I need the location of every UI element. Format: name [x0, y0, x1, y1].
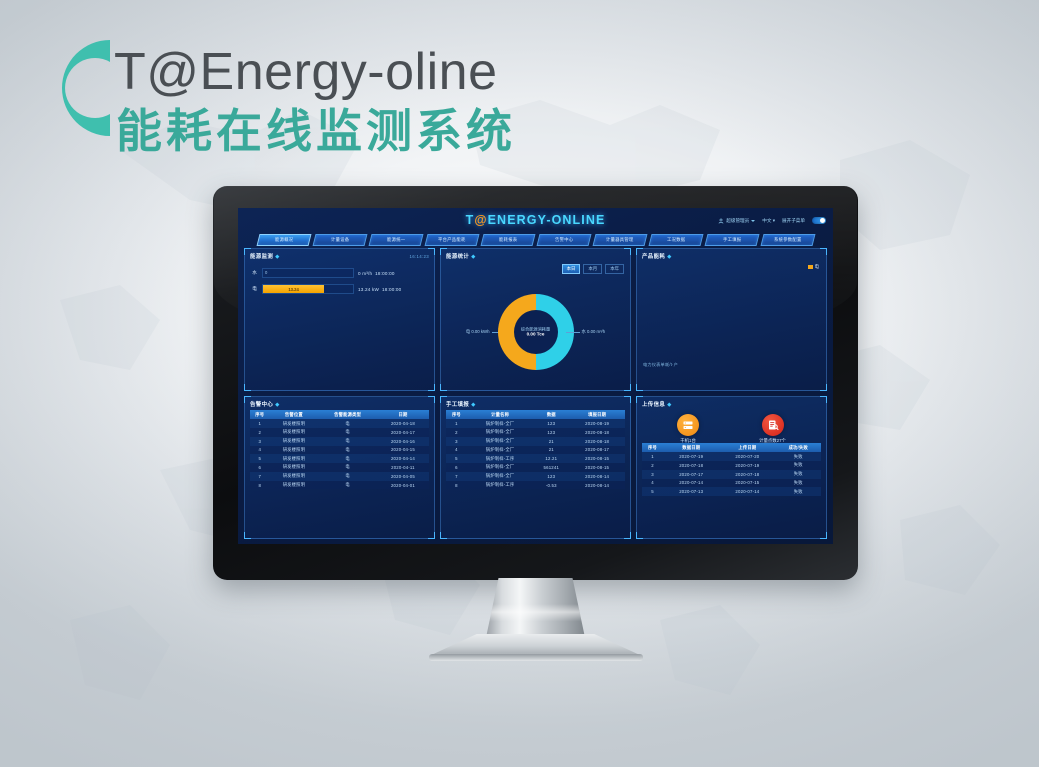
dashboard: T@ENERGY-ONLINE 超级管理员 中文 ▾ 展开子菜单	[238, 208, 833, 544]
table-cell: 电	[318, 454, 377, 463]
document-search-icon	[762, 414, 784, 436]
table-cell: 2020-07-18	[663, 461, 719, 470]
donut-center-value: 0.00 Tce	[498, 332, 574, 338]
panel-manual-entry: 手工填报 序号计量名称数据填报日期1锅炉制样-全厂1232020-08-192锅…	[440, 396, 631, 539]
table-cell: 1	[642, 452, 663, 461]
table-cell: 锅炉制样-全厂	[467, 463, 533, 472]
table-cell: 123	[533, 472, 569, 481]
submenu-toggle[interactable]	[812, 217, 826, 224]
table-cell: 5	[642, 487, 663, 496]
period-tab-2[interactable]: 本年	[605, 264, 624, 274]
table-row[interactable]: 52020-07-132020-07-14失败	[642, 487, 821, 496]
table-cell: 电	[318, 428, 377, 437]
table-cell: 3	[446, 437, 467, 446]
table-cell: 失败	[776, 479, 821, 488]
panel-title: 能源统计	[446, 252, 469, 260]
nav-item-8[interactable]: 手工填报	[704, 234, 759, 246]
panel-title: 手工填报	[446, 400, 469, 408]
panel-header: 手工填报	[441, 397, 630, 410]
table-cell: 2020-04-15	[377, 446, 429, 455]
energy-row-1: 电13.2413.24 kW 18:00:00	[251, 284, 428, 294]
table-cell: 研发楼照明	[270, 419, 319, 428]
nav-item-3[interactable]: 平台产品能耗	[424, 234, 479, 246]
table-cell: 失败	[776, 470, 821, 479]
table-row[interactable]: 8锅炉制样-工序-0.532020-08-14	[446, 481, 625, 490]
logo-suffix: ENERGY-ONLINE	[488, 213, 606, 227]
panel-title: 上传信息	[642, 400, 665, 408]
column-header: 告警能源类型	[318, 410, 377, 419]
nav-item-label: 能源统一	[386, 237, 404, 243]
table-cell: 2020-08-14	[569, 481, 625, 490]
table-cell: 4	[446, 446, 467, 455]
table-header-row: 序号数据日期上传日期成功/失败	[642, 443, 821, 452]
table-cell: 2020-04-18	[377, 419, 429, 428]
table-header-row: 序号告警位置告警能源类型日期	[250, 410, 429, 419]
chevron-down-icon	[751, 220, 755, 222]
language-menu[interactable]: 中文 ▾	[762, 218, 775, 224]
table-row[interactable]: 6研发楼照明电2020-04-11	[250, 463, 429, 472]
table-cell: -0.53	[533, 481, 569, 490]
table-cell: 2020-08-14	[569, 472, 625, 481]
column-header: 数据	[533, 410, 569, 419]
nav-item-5[interactable]: 告警中心	[536, 234, 591, 246]
table-cell: 2020-08-18	[569, 437, 625, 446]
legend-swatch-electric	[808, 265, 813, 269]
diamond-icon	[668, 254, 672, 258]
table-cell: 研发楼照明	[270, 481, 319, 490]
user-menu[interactable]: 超级管理员	[718, 218, 755, 224]
nav-item-4[interactable]: 能耗报表	[480, 234, 535, 246]
dashboard-grid: 能源监测 16:14:23 水00 m³/h 18:00:00电13.2413.…	[244, 248, 827, 539]
column-header: 告警位置	[270, 410, 319, 419]
panel-energy-stats: 能源统计 本日本月本年 电 0.00 kWh 综合能源消耗量 0.00 Tce	[440, 248, 631, 391]
donut-center: 综合能源消耗量 0.00 Tce	[498, 326, 574, 337]
table-row[interactable]: 42020-07-142020-07-15失败	[642, 479, 821, 488]
table-cell: 2020-07-19	[663, 452, 719, 461]
energy-row-bar-fill: 13.24	[263, 285, 324, 293]
chart-legend: 电	[808, 264, 819, 270]
table-cell: 锅炉制样-全厂	[467, 472, 533, 481]
logo-prefix: T	[466, 213, 475, 227]
panel-header: 能源统计	[441, 249, 630, 262]
diamond-icon	[276, 254, 280, 258]
period-tab-1[interactable]: 本月	[583, 264, 602, 274]
nav-item-label: 能源概况	[274, 237, 292, 243]
alarm-table-wrap[interactable]: 序号告警位置告警能源类型日期1研发楼照明电2020-04-182研发楼照明电20…	[250, 410, 429, 537]
dashboard-logo: T@ENERGY-ONLINE	[466, 213, 606, 227]
column-header: 序号	[446, 410, 467, 419]
panel-body: 电 电力仪表单耗/t·产	[637, 262, 826, 390]
monitor: T@ENERGY-ONLINE 超级管理员 中文 ▾ 展开子菜单	[213, 186, 858, 580]
table-row[interactable]: 12020-07-192020-07-20失败	[642, 452, 821, 461]
diamond-icon	[668, 402, 672, 406]
table-row[interactable]: 2研发楼照明电2020-04-17	[250, 428, 429, 437]
monitor-neck	[486, 578, 586, 640]
energy-row-bar-value: 0	[265, 270, 267, 275]
table-header-row: 序号计量名称数据填报日期	[446, 410, 625, 419]
table-cell: 锅炉制样-工序	[467, 481, 533, 490]
upload-badges: 干机1台计量点数27个	[637, 410, 826, 446]
table-row[interactable]: 6锅炉制样-全厂5612412020-08-15	[446, 463, 625, 472]
table-cell: 8	[250, 481, 270, 490]
logo-c-icon	[52, 30, 114, 146]
period-tab-0[interactable]: 本日	[562, 264, 581, 274]
energy-row-0: 水00 m³/h 18:00:00	[251, 268, 428, 278]
table-cell: 2020-07-18	[719, 470, 775, 479]
table-cell: 研发楼照明	[270, 446, 319, 455]
upload-table: 序号数据日期上传日期成功/失败12020-07-192020-07-20失败22…	[642, 443, 821, 496]
brand-title-en: T@Energy-oline	[114, 46, 498, 98]
table-cell: 锅炉制样-全厂	[467, 419, 533, 428]
table-cell: 电	[318, 446, 377, 455]
table-cell: 电	[318, 472, 377, 481]
table-row[interactable]: 3锅炉制样-全厂212020-08-18	[446, 437, 625, 446]
donut-ring: 综合能源消耗量 0.00 Tce	[498, 294, 574, 370]
nav-item-label: 系统参数配置	[774, 237, 802, 243]
energy-row-name: 水	[251, 270, 258, 276]
table-cell: 8	[446, 481, 467, 490]
column-header: 填报日期	[569, 410, 625, 419]
table-cell: 2020-04-11	[377, 463, 429, 472]
panel-title: 产品能耗	[642, 252, 665, 260]
diamond-icon	[472, 402, 476, 406]
table-cell: 研发楼照明	[270, 472, 319, 481]
server-icon	[677, 414, 699, 436]
energy-row-name: 电	[251, 286, 258, 292]
nav-item-1[interactable]: 计量设备	[312, 234, 367, 246]
nav-item-label: 计量器具管理	[606, 237, 634, 243]
table-cell: 4	[250, 446, 270, 455]
table-row[interactable]: 2锅炉制样-全厂1232020-08-18	[446, 428, 625, 437]
table-cell: 2020-04-16	[377, 437, 429, 446]
brand-title-cn: 能耗在线监测系统	[116, 108, 516, 154]
table-cell: 研发楼照明	[270, 437, 319, 446]
panel-body: 本日本月本年 电 0.00 kWh 综合能源消耗量 0.00 Tce 水 0.0…	[441, 262, 630, 390]
table-cell: 12.21	[533, 454, 569, 463]
monitor-base-edge	[429, 654, 643, 661]
column-header: 序号	[250, 410, 270, 419]
panel-header: 能源监测 16:14:23	[245, 249, 434, 262]
table-cell: 电	[318, 463, 377, 472]
nav-item-0[interactable]: 能源概况	[256, 234, 311, 246]
table-row[interactable]: 4研发楼照明电2020-04-15	[250, 446, 429, 455]
table-row[interactable]: 3研发楼照明电2020-04-16	[250, 437, 429, 446]
nav-item-label: 能耗报表	[498, 237, 516, 243]
upload-table-wrap[interactable]: 序号数据日期上传日期成功/失败12020-07-192020-07-20失败22…	[642, 443, 821, 536]
alarm-table: 序号告警位置告警能源类型日期1研发楼照明电2020-04-182研发楼照明电20…	[250, 410, 429, 489]
table-cell: 锅炉制样-全厂	[467, 446, 533, 455]
upload-badge-0[interactable]: 干机1台	[677, 414, 699, 444]
table-cell: 2020-08-15	[569, 454, 625, 463]
table-cell: 锅炉制样-全厂	[467, 437, 533, 446]
panel-header: 告警中心	[245, 397, 434, 410]
donut-label-right: 水 0.00 m³/h	[582, 329, 606, 335]
user-name: 超级管理员	[726, 218, 749, 224]
logo-at-icon: @	[474, 213, 487, 227]
period-tabs: 本日本月本年	[562, 264, 624, 274]
table-cell: 5	[446, 454, 467, 463]
column-header: 序号	[642, 443, 663, 452]
monitor-screen: T@ENERGY-ONLINE 超级管理员 中文 ▾ 展开子菜单	[238, 208, 833, 544]
table-cell: 电	[318, 481, 377, 490]
table-row[interactable]: 8研发楼照明电2020-04-01	[250, 481, 429, 490]
branding: T@Energy-oline 能耗在线监测系统	[52, 24, 612, 154]
table-cell: 2020-07-13	[663, 487, 719, 496]
panel-header: 上传信息	[637, 397, 826, 410]
table-cell: 2	[250, 428, 270, 437]
table-cell: 研发楼照明	[270, 454, 319, 463]
table-cell: 561241	[533, 463, 569, 472]
nav-item-label: 计量设备	[330, 237, 348, 243]
energy-row-reading: 0 m³/h 18:00:00	[358, 271, 428, 276]
donut-label-left: 电 0.00 kWh	[466, 329, 490, 335]
table-cell: 2020-07-14	[719, 487, 775, 496]
table-cell: 失败	[776, 461, 821, 470]
panel-title: 告警中心	[250, 400, 273, 408]
table-cell: 2020-08-15	[569, 463, 625, 472]
table-row[interactable]: 7研发楼照明电2020-04-05	[250, 472, 429, 481]
toggle-label: 展开子菜单	[782, 218, 805, 224]
panel-upload-info: 上传信息 干机1台计量点数27个 序号数据日期上传日期成功/失败12020-07…	[636, 396, 827, 539]
manual-table-wrap[interactable]: 序号计量名称数据填报日期1锅炉制样-全厂1232020-08-192锅炉制样-全…	[446, 410, 625, 537]
table-cell: 123	[533, 419, 569, 428]
table-cell: 研发楼照明	[270, 428, 319, 437]
user-bar: 超级管理员 中文 ▾ 展开子菜单	[718, 217, 826, 224]
table-cell: 3	[642, 470, 663, 479]
table-cell: 研发楼照明	[270, 463, 319, 472]
table-cell: 7	[446, 472, 467, 481]
donut-chart: 电 0.00 kWh 综合能源消耗量 0.00 Tce 水 0.00 m³/h	[441, 278, 630, 386]
energy-row-reading: 13.24 kW 18:00:00	[358, 287, 428, 292]
panel-alarm-center: 告警中心 序号告警位置告警能源类型日期1研发楼照明电2020-04-182研发楼…	[244, 396, 435, 539]
table-cell: 2020-08-18	[569, 428, 625, 437]
nav-item-2[interactable]: 能源统一	[368, 234, 423, 246]
table-cell: 6	[446, 463, 467, 472]
energy-row-bar: 13.24	[262, 284, 354, 294]
diamond-icon	[472, 254, 476, 258]
legend-label: 电	[815, 264, 819, 270]
table-cell: 锅炉制样-工序	[467, 454, 533, 463]
table-cell: 2	[446, 428, 467, 437]
table-row[interactable]: 32020-07-172020-07-18失败	[642, 470, 821, 479]
table-row[interactable]: 7锅炉制样-全厂1232020-08-14	[446, 472, 625, 481]
energy-row-bar: 0	[262, 268, 354, 278]
table-cell: 2	[642, 461, 663, 470]
user-icon	[718, 218, 724, 224]
column-header: 计量名称	[467, 410, 533, 419]
nav-item-label: 告警中心	[554, 237, 572, 243]
table-row[interactable]: 1研发楼照明电2020-04-18	[250, 419, 429, 428]
table-row[interactable]: 22020-07-182020-07-19失败	[642, 461, 821, 470]
table-cell: 2020-04-05	[377, 472, 429, 481]
nav-item-label: 工况数据	[666, 237, 684, 243]
table-cell: 电	[318, 437, 377, 446]
panel-header: 产品能耗	[637, 249, 826, 262]
table-cell: 2020-04-17	[377, 428, 429, 437]
table-cell: 2020-04-01	[377, 481, 429, 490]
table-row[interactable]: 5研发楼照明电2020-04-14	[250, 454, 429, 463]
column-header: 成功/失败	[776, 443, 821, 452]
table-cell: 4	[642, 479, 663, 488]
table-cell: 锅炉制样-全厂	[467, 428, 533, 437]
table-cell: 电	[318, 419, 377, 428]
column-header: 数据日期	[663, 443, 719, 452]
table-row[interactable]: 5锅炉制样-工序12.212020-08-15	[446, 454, 625, 463]
table-cell: 2020-08-19	[569, 419, 625, 428]
column-header: 日期	[377, 410, 429, 419]
table-cell: 21	[533, 446, 569, 455]
panel-title: 能源监测	[250, 252, 273, 260]
nav-item-label: 平台产品能耗	[438, 237, 466, 243]
panel-product-energy: 产品能耗 电 电力仪表单耗/t·产	[636, 248, 827, 391]
table-cell: 2020-07-14	[663, 479, 719, 488]
upload-badge-1[interactable]: 计量点数27个	[759, 414, 786, 444]
nav-item-6[interactable]: 计量器具管理	[592, 234, 647, 246]
table-cell: 3	[250, 437, 270, 446]
table-cell: 1	[250, 419, 270, 428]
table-row[interactable]: 1锅炉制样-全厂1232020-08-19	[446, 419, 625, 428]
nav-item-label: 手工填报	[722, 237, 740, 243]
manual-table: 序号计量名称数据填报日期1锅炉制样-全厂1232020-08-192锅炉制样-全…	[446, 410, 625, 489]
table-cell: 2020-07-17	[663, 470, 719, 479]
diamond-icon	[276, 402, 280, 406]
table-cell: 失败	[776, 487, 821, 496]
nav-item-7[interactable]: 工况数据	[648, 234, 703, 246]
table-cell: 失败	[776, 452, 821, 461]
table-cell: 21	[533, 437, 569, 446]
nav-item-9[interactable]: 系统参数配置	[760, 234, 815, 246]
main-nav: 能源概况计量设备能源统一平台产品能耗能耗报表告警中心计量器具管理工况数据手工填报…	[238, 234, 833, 246]
table-cell: 6	[250, 463, 270, 472]
table-cell: 5	[250, 454, 270, 463]
panel-body: 水00 m³/h 18:00:00电13.2413.24 kW 18:00:00	[245, 262, 434, 390]
chart-axis-note: 电力仪表单耗/t·产	[643, 362, 678, 368]
table-cell: 2020-08-17	[569, 446, 625, 455]
table-cell: 2020-07-19	[719, 461, 775, 470]
table-cell: 2020-07-20	[719, 452, 775, 461]
language-label: 中文 ▾	[762, 218, 775, 224]
panel-energy-monitor: 能源监测 16:14:23 水00 m³/h 18:00:00电13.2413.…	[244, 248, 435, 391]
panel-timestamp: 16:14:23	[410, 254, 430, 259]
table-row[interactable]: 4锅炉制样-全厂212020-08-17	[446, 446, 625, 455]
table-cell: 7	[250, 472, 270, 481]
table-cell: 1	[446, 419, 467, 428]
table-cell: 2020-07-15	[719, 479, 775, 488]
table-cell: 123	[533, 428, 569, 437]
table-cell: 2020-04-14	[377, 454, 429, 463]
column-header: 上传日期	[719, 443, 775, 452]
